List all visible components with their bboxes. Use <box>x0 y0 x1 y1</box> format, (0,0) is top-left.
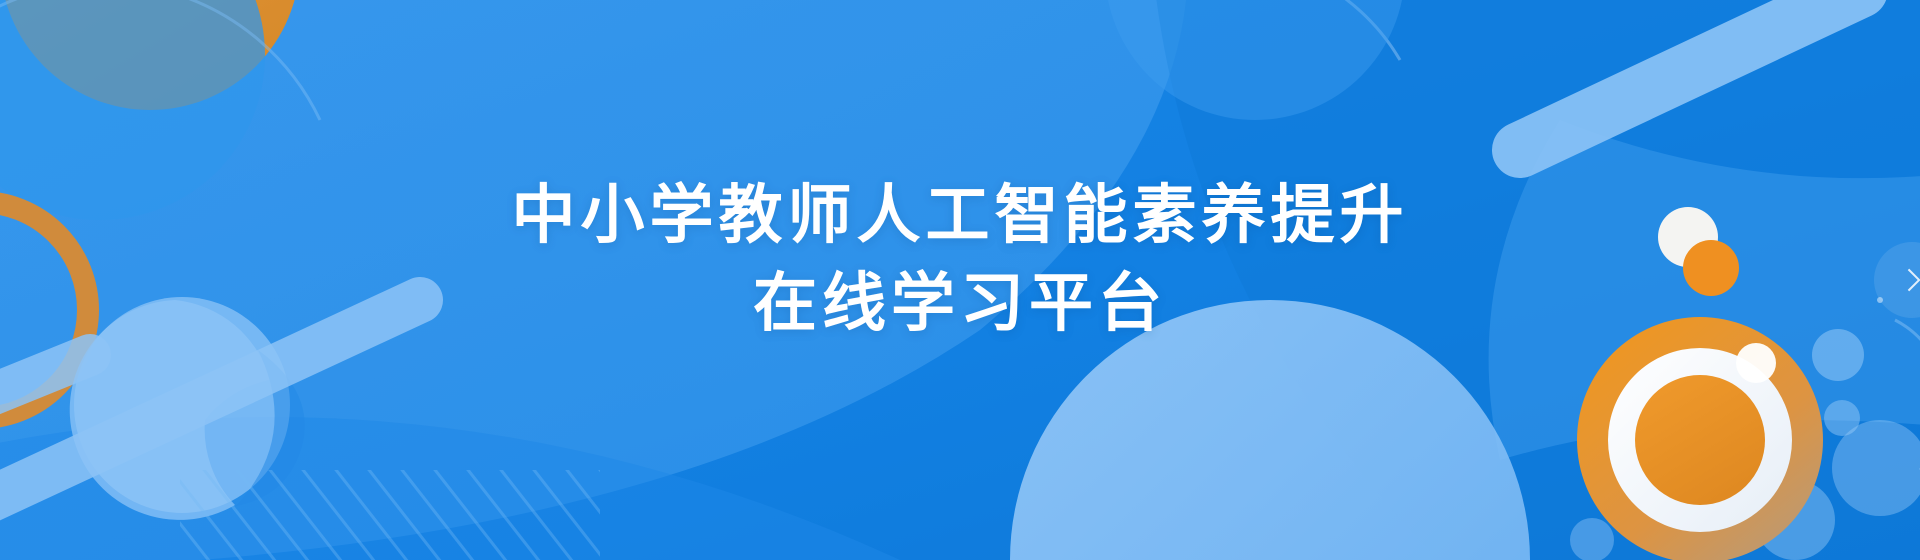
chevron-right-icon <box>1898 269 1920 292</box>
hero-banner: 中小学教师人工智能素养提升 在线学习平台 <box>0 0 1920 560</box>
banner-background-illustration <box>0 0 1920 560</box>
